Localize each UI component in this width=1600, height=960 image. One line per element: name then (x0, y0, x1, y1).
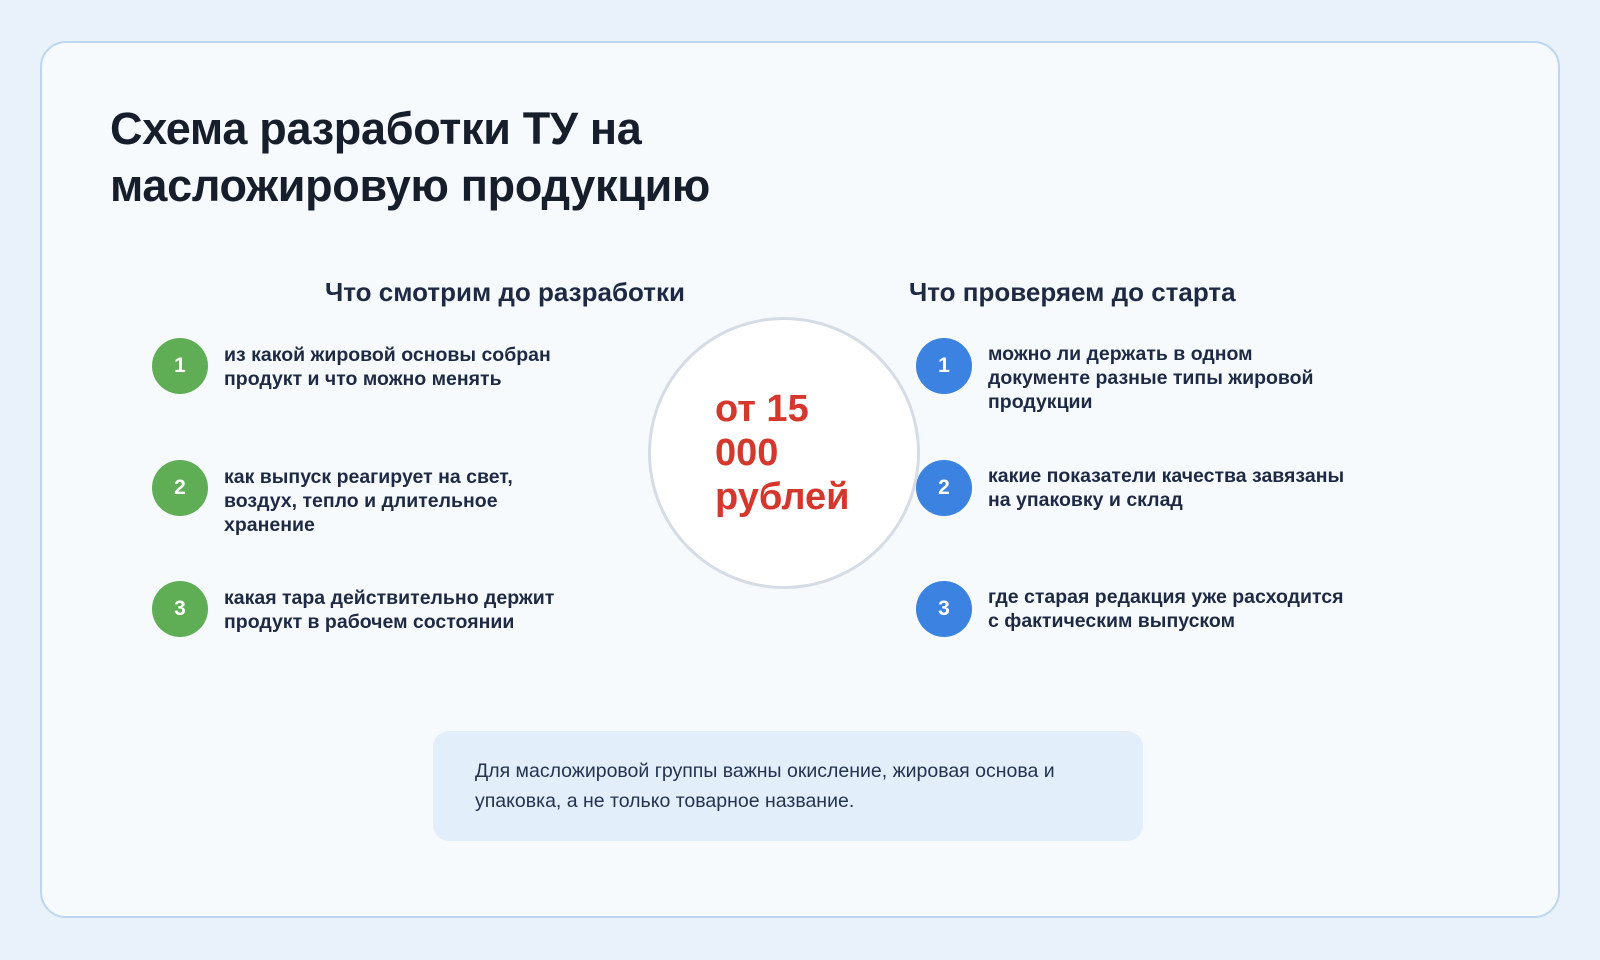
infographic-canvas: Схема разработки ТУ на масложировую прод… (0, 0, 1600, 960)
step-number-badge: 1 (152, 338, 208, 394)
note-text: Для масложировой группы важны окисление,… (433, 756, 1143, 816)
right-list-item-3: 3 где старая редакция уже расходится с ф… (916, 581, 1346, 637)
left-list-item-3-text: какая тара действительно держит продукт … (224, 581, 582, 634)
left-list-item-2: 2 как выпуск реагирует на свет, воздух, … (152, 460, 582, 537)
step-number-badge: 2 (152, 460, 208, 516)
step-number-badge: 3 (916, 581, 972, 637)
step-number-badge: 2 (916, 460, 972, 516)
price-label: от 15 000 рублей (699, 387, 869, 519)
right-list-item-2-text: какие показатели качества завязаны на уп… (988, 460, 1346, 512)
right-list-item-1-text: можно ли держать в одном документе разны… (988, 338, 1346, 414)
left-column-heading: Что смотрим до разработки (325, 276, 685, 308)
price-circle: от 15 000 рублей (648, 317, 920, 589)
page-title: Схема разработки ТУ на масложировую прод… (110, 100, 930, 214)
step-number-badge: 3 (152, 581, 208, 637)
right-column-heading: Что проверяем до старта (909, 276, 1236, 308)
left-list-item-3: 3 какая тара действительно держит продук… (152, 581, 582, 637)
step-number-badge: 1 (916, 338, 972, 394)
right-list-item-3-text: где старая редакция уже расходится с фак… (988, 581, 1346, 633)
left-list-item-1: 1 из какой жировой основы собран продукт… (152, 338, 582, 394)
right-list-item-1: 1 можно ли держать в одном документе раз… (916, 338, 1346, 414)
left-list-item-1-text: из какой жировой основы собран продукт и… (224, 338, 582, 391)
note-box: Для масложировой группы важны окисление,… (433, 731, 1143, 841)
right-list-item-2: 2 какие показатели качества завязаны на … (916, 460, 1346, 516)
left-list-item-2-text: как выпуск реагирует на свет, воздух, те… (224, 460, 582, 537)
